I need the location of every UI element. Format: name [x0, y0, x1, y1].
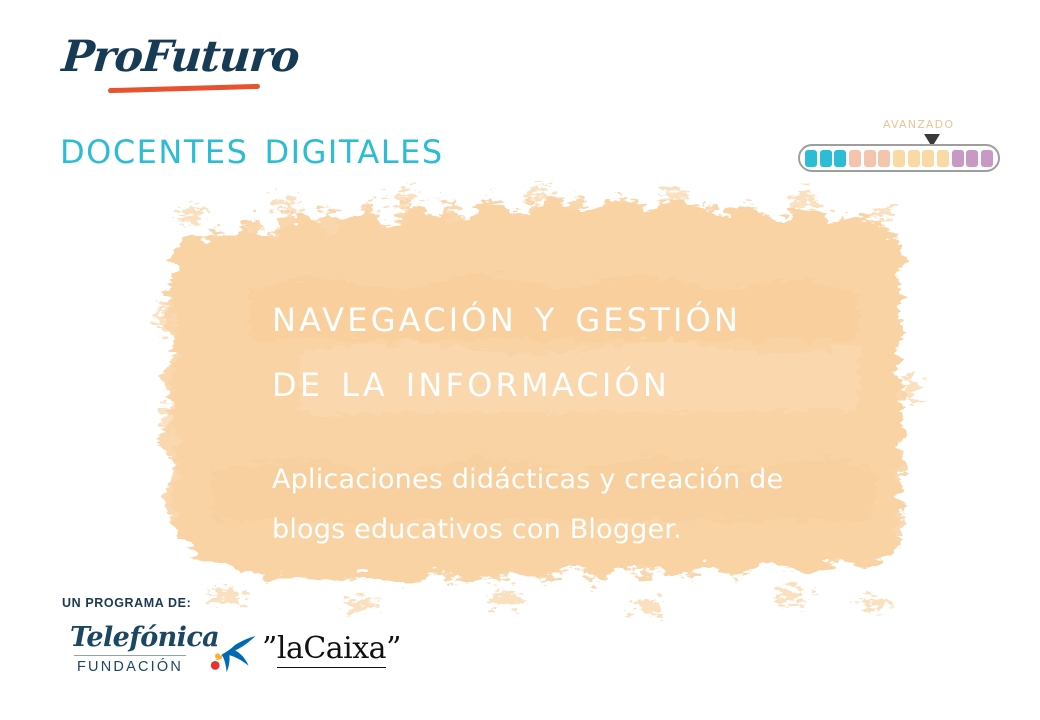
level-segment — [820, 150, 832, 167]
lacaixa-logo: ”laCaixa” — [210, 632, 440, 676]
telefonica-wordmark: Telefónica — [70, 624, 190, 651]
lacaixa-la: la — [277, 631, 303, 668]
level-segment — [893, 150, 905, 167]
level-segment — [922, 150, 934, 167]
level-meter: Avanzado — [795, 114, 1005, 176]
level-segment — [937, 150, 949, 167]
level-segment — [849, 150, 861, 167]
level-segment — [864, 150, 876, 167]
headline-line-1: Navegación y gestión — [272, 283, 912, 348]
level-segment — [981, 150, 993, 167]
telefonica-fundacion-label: FUNDACIÓN — [70, 659, 190, 675]
subtitle-line-2: blogs educativos con Blogger. — [272, 505, 932, 555]
level-label: Avanzado — [883, 114, 954, 132]
level-segment — [834, 150, 846, 167]
program-title: Docentes Digitales — [60, 124, 444, 170]
lacaixa-quote-close: ” — [386, 631, 401, 666]
level-segment — [878, 150, 890, 167]
headline: Navegación y gestión de la información — [272, 283, 912, 414]
lacaixa-star-icon — [210, 634, 256, 674]
lacaixa-wordmark: ”laCaixa” — [262, 632, 401, 665]
subtitle: Aplicaciones didácticas y creación de bl… — [272, 455, 932, 555]
footer-kicker: UN PROGRAMA DE: — [62, 596, 191, 610]
telefonica-divider — [74, 655, 186, 656]
profuturo-wordmark: ProFuturo — [60, 36, 324, 79]
headline-line-2: de la información — [272, 348, 912, 413]
level-segment — [966, 150, 978, 167]
telefonica-fundacion-logo: Telefónica FUNDACIÓN — [70, 624, 190, 675]
lacaixa-quote-open: ” — [262, 631, 277, 666]
footer: UN PROGRAMA DE: Telefónica FUNDACIÓN ”la… — [62, 596, 482, 696]
lacaixa-caixa: Caixa — [303, 631, 386, 668]
level-segment — [952, 150, 964, 167]
profuturo-logo: ProFuturo — [62, 36, 322, 102]
level-segment — [805, 150, 817, 167]
level-segment — [908, 150, 920, 167]
level-track — [798, 144, 1000, 172]
subtitle-line-1: Aplicaciones didácticas y creación de — [272, 455, 932, 505]
slide-canvas: ProFuturo Docentes Digitales Avanzado Na… — [0, 0, 1040, 720]
profuturo-underline — [108, 84, 260, 93]
